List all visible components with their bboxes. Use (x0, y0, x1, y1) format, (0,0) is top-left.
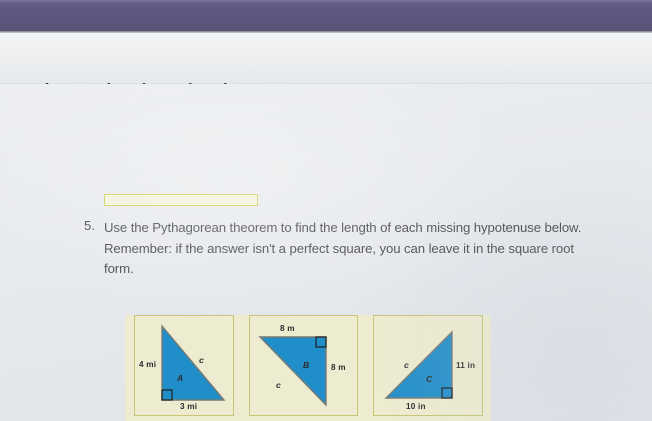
highlight-bar (104, 194, 258, 206)
figure-b-inner-label: B (303, 360, 309, 370)
question-text: Use the Pythagorean theorem to find the … (104, 218, 604, 280)
question-content-area: 5. Use the Pythagorean theorem to find t… (0, 84, 652, 421)
chrome-sheen (0, 0, 652, 4)
figure-b-hypotenuse-label: c (276, 380, 281, 390)
triangle-a-shape (162, 326, 224, 400)
screen-photo: Equations Related to Triangles 0:02 5. U… (0, 0, 652, 421)
figure-c-leg-bottom-label: 10 in (406, 402, 426, 411)
figure-a-leg-horizontal-label: 3 mi (180, 402, 197, 411)
figure-a-leg-vertical-label: 4 mi (139, 360, 156, 369)
question-number: 5. (84, 218, 95, 233)
figure-c-leg-right-label: 11 in (456, 361, 475, 370)
figure-b-box: 8 m 8 m B c (249, 315, 358, 416)
figure-a-box: 4 mi c A 3 mi (134, 315, 234, 416)
figure-c-box: c C 11 in 10 in (373, 315, 483, 416)
assignment-title-bar: Equations Related to Triangles 0:02 (0, 33, 652, 84)
figure-b-leg-top-label: 8 m (280, 324, 295, 333)
figure-b-leg-right-label: 8 m (331, 363, 346, 372)
figure-row: 4 mi c A 3 mi 8 m 8 m B c (125, 315, 491, 419)
question-block: 5. Use the Pythagorean theorem to find t… (84, 218, 604, 280)
worksheet-panel: 4 mi c A 3 mi 8 m 8 m B c (125, 315, 491, 421)
browser-chrome-bar (0, 0, 652, 32)
figure-a-inner-label: A (177, 373, 183, 383)
figure-c-inner-label: C (426, 374, 432, 384)
figure-c-hypotenuse-label: c (404, 360, 409, 370)
figure-a-hypotenuse-label: c (199, 355, 204, 365)
